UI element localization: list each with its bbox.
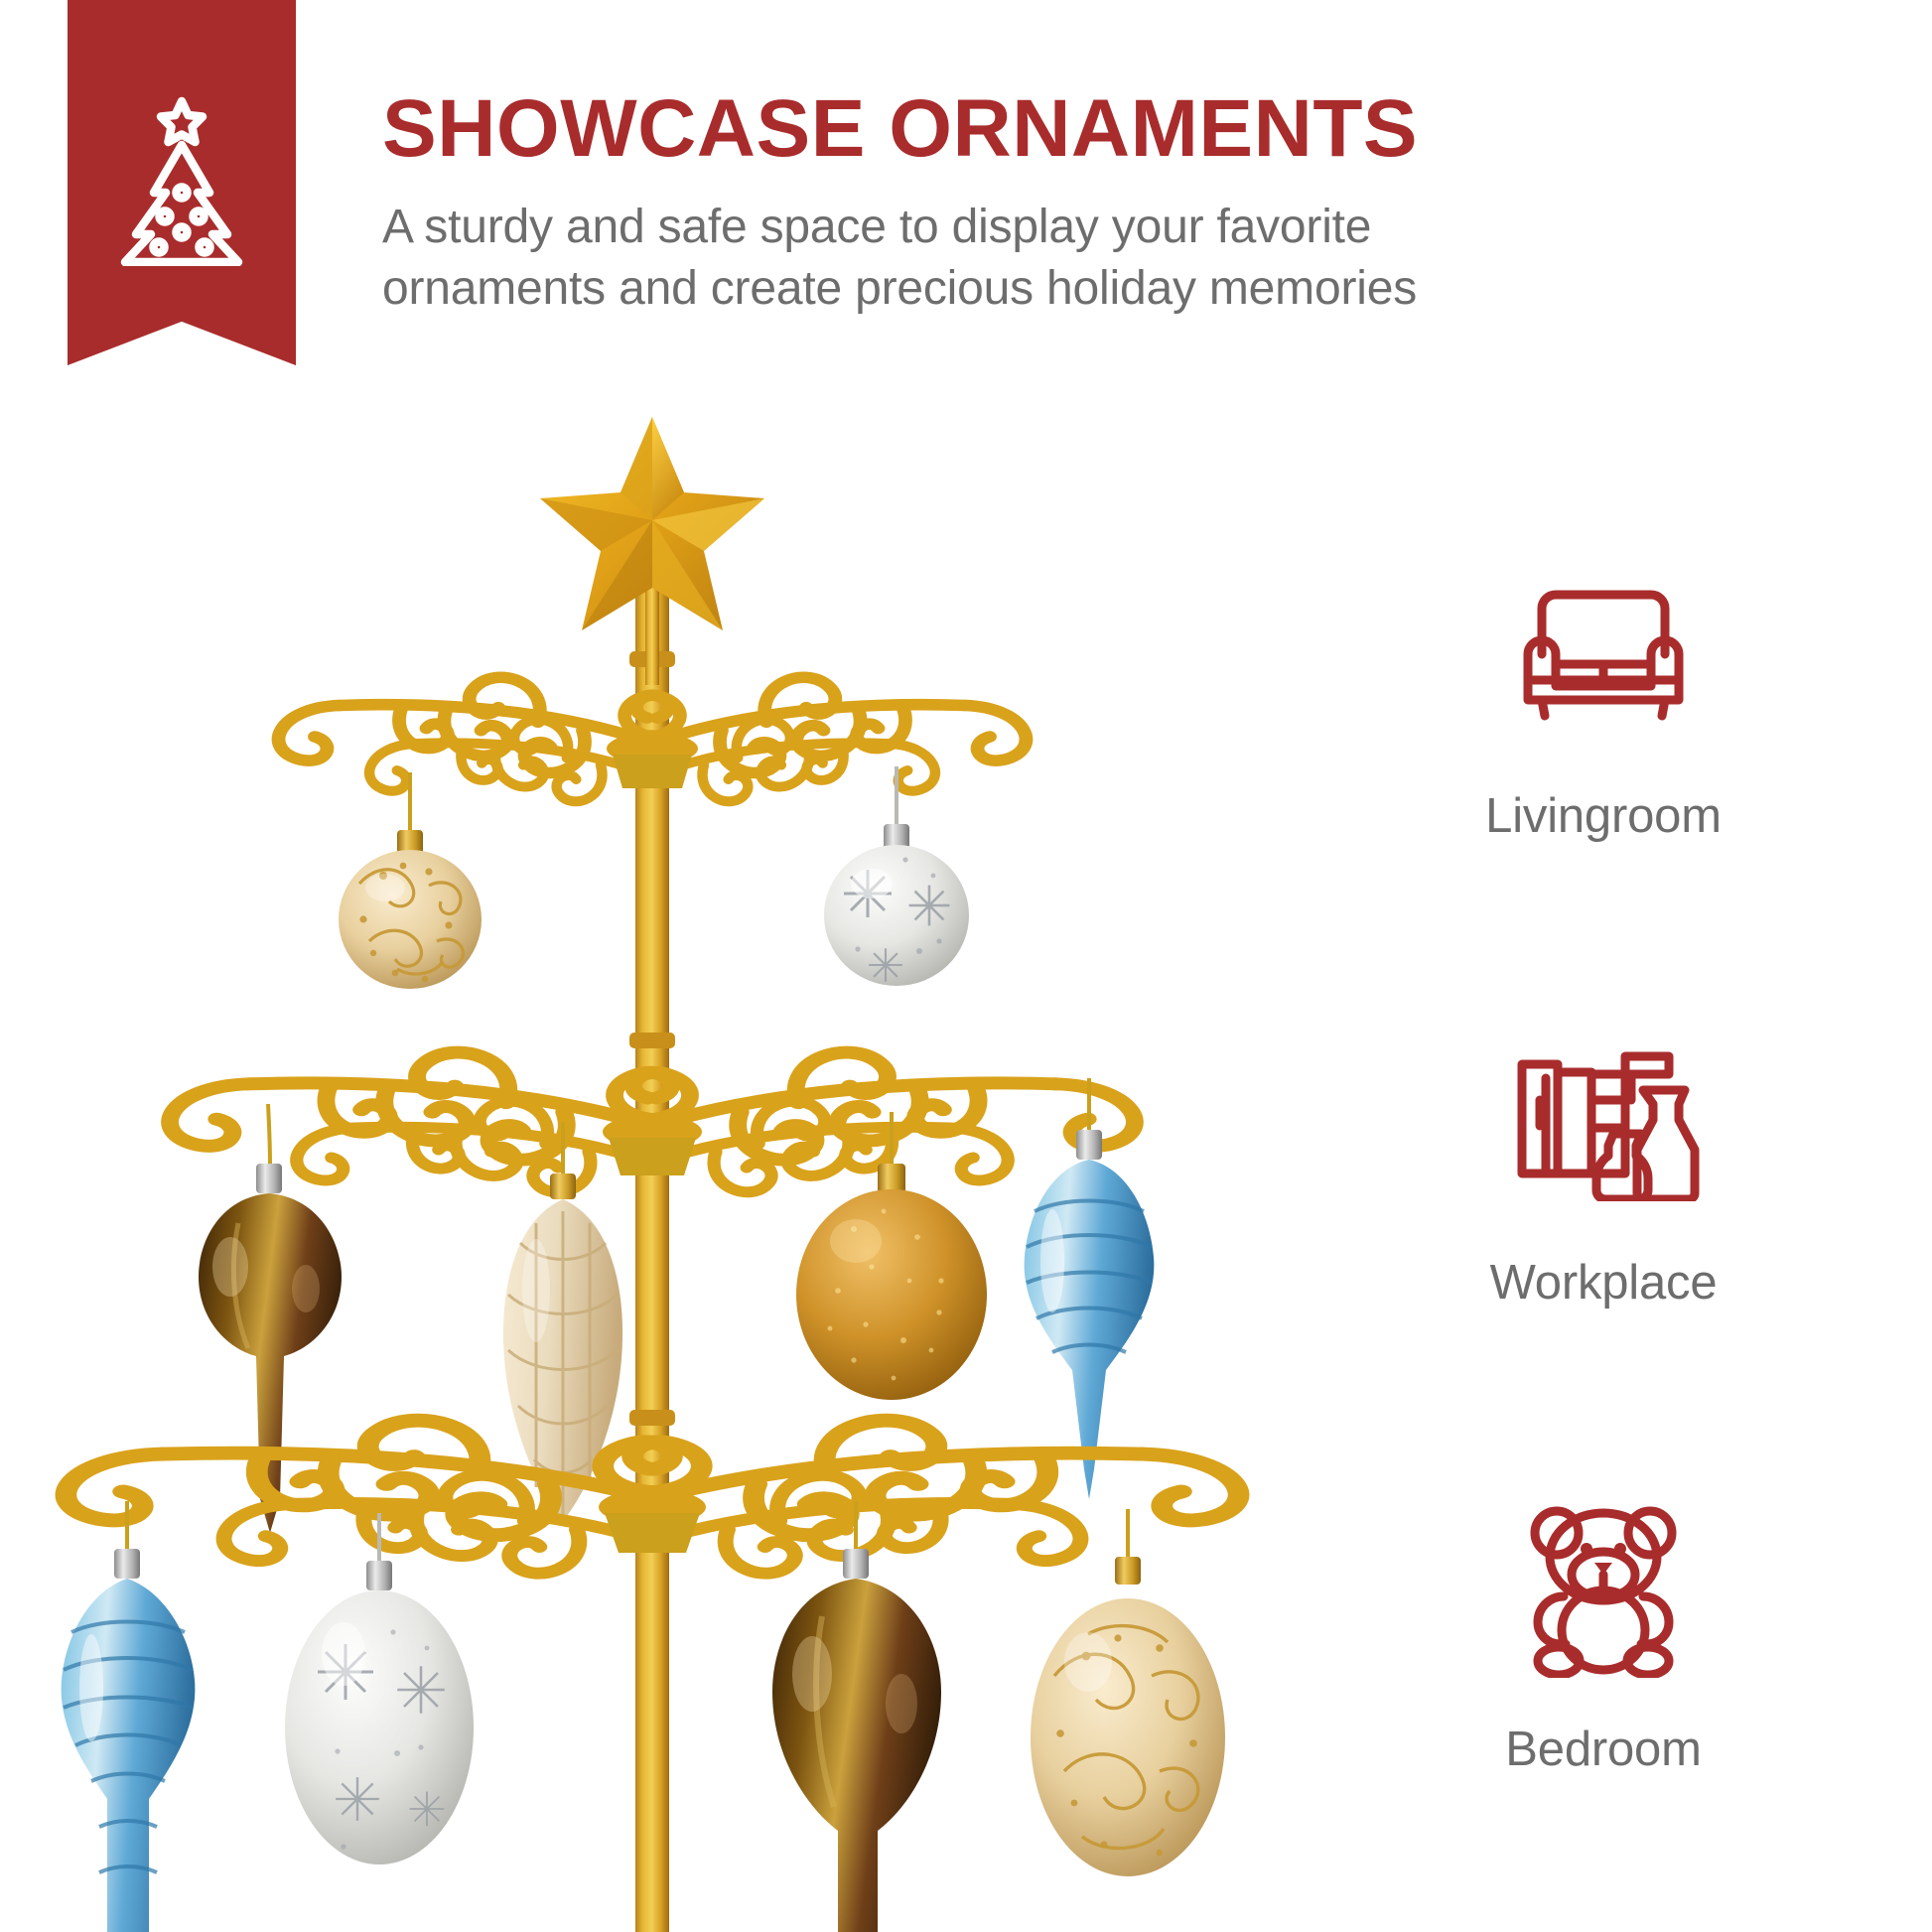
feature-label-livingroom: Livingroom: [1370, 788, 1837, 844]
sofa-icon: [1504, 581, 1703, 730]
feature-label-bedroom: Bedroom: [1370, 1722, 1837, 1777]
feature-workplace: Workplace: [1370, 1023, 1837, 1311]
tree-tier-1-branches: [279, 677, 1027, 801]
vases-books-icon: [1504, 1042, 1703, 1201]
feature-icon-wrap: [1370, 1489, 1837, 1688]
subtitle-line-2: ornaments and create precious holiday me…: [382, 258, 1862, 320]
gold-star-topper: [540, 417, 764, 685]
ornament-tree-illustration: [0, 417, 1320, 1932]
ornament-silver-snowflake-ball-t3: [285, 1513, 474, 1864]
feature-label-workplace: Workplace: [1370, 1255, 1837, 1311]
teddy-bear-icon: [1509, 1499, 1698, 1678]
christmas-tree-icon: [107, 87, 256, 266]
ornament-gold-glitter-ball-t2: [796, 1112, 987, 1400]
feature-icon-wrap: [1370, 556, 1837, 755]
feature-icon-wrap: [1370, 1023, 1837, 1221]
product-photo-ornament-tree: [0, 417, 1320, 1932]
tree-tier-3-branches: [66, 1421, 1238, 1574]
header-text-block: SHOWCASE ORNAMENTS A sturdy and safe spa…: [382, 87, 1862, 320]
header: SHOWCASE ORNAMENTS A sturdy and safe spa…: [0, 0, 1932, 377]
feature-livingroom: Livingroom: [1370, 556, 1837, 844]
ornament-gold-filigree-ball-t1: [339, 772, 482, 989]
tree-tier-2-branches: [170, 1052, 1135, 1192]
ornament-blue-spindle-t3: [62, 1501, 196, 1932]
page-title: SHOWCASE ORNAMENTS: [382, 87, 1862, 171]
infographic-page: SHOWCASE ORNAMENTS A sturdy and safe spa…: [0, 0, 1932, 1932]
feature-bedroom: Bedroom: [1370, 1489, 1837, 1777]
subtitle-line-1: A sturdy and safe space to display your …: [382, 197, 1862, 258]
ornament-blue-spindle-t2: [1025, 1078, 1155, 1499]
feature-list: Livingroom Workplace: [1370, 556, 1837, 1777]
ornament-silver-snowflake-ball-t1: [824, 766, 969, 986]
page-subtitle: A sturdy and safe space to display your …: [382, 197, 1862, 321]
header-badge: [68, 0, 296, 365]
